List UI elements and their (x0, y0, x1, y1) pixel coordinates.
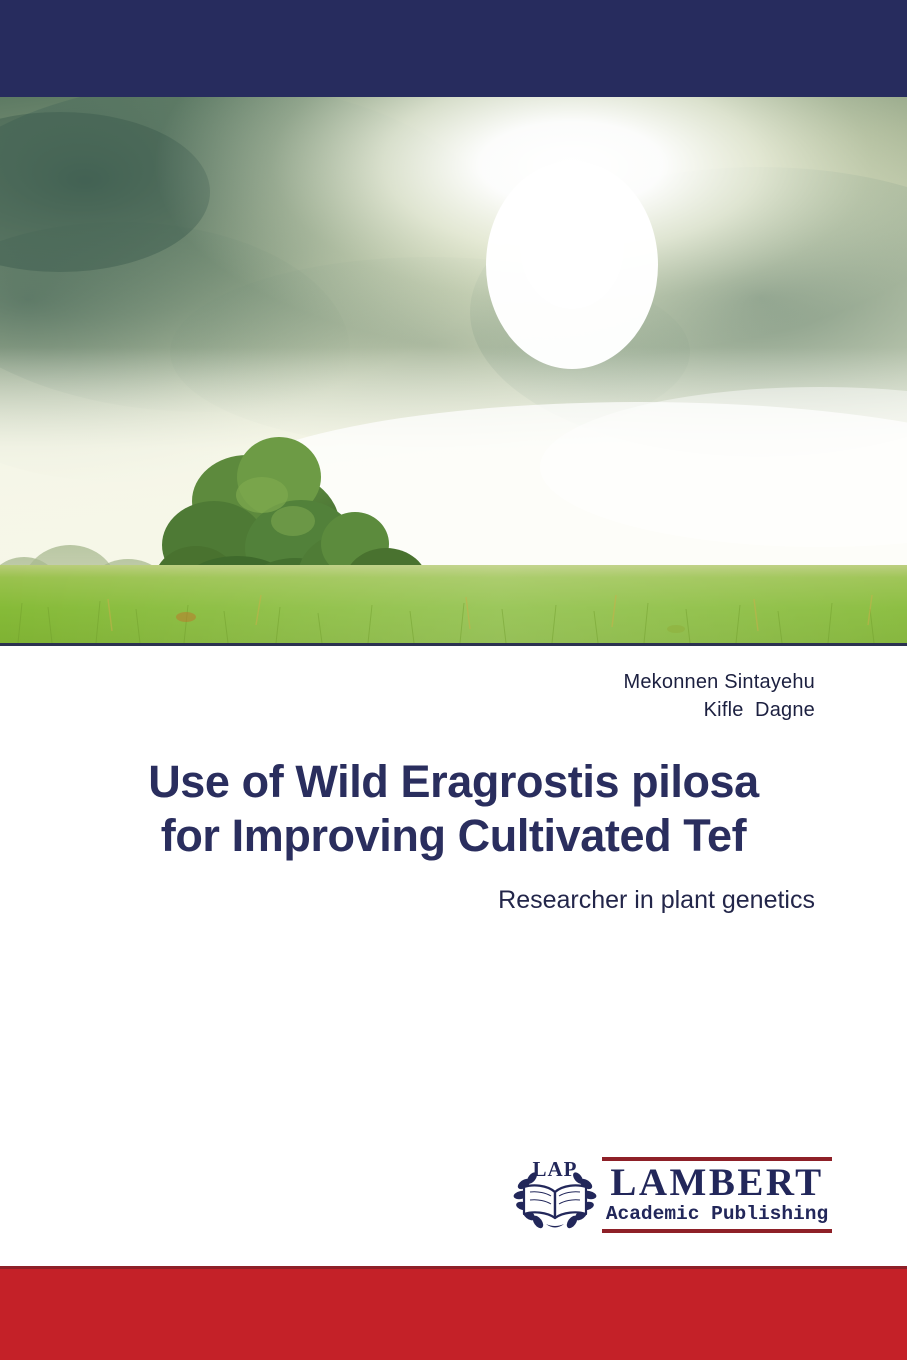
publisher-name: LAMBERT (602, 1163, 832, 1203)
book-subtitle: Researcher in plant genetics (115, 884, 815, 916)
book-title: Use of Wild Eragrostis pilosa for Improv… (0, 755, 907, 863)
logo-rule-bottom (602, 1229, 832, 1233)
author-name-primary: Mekonnen Sintayehu (175, 668, 815, 696)
lap-book-laurel-icon: LAP (512, 1154, 598, 1234)
author-block: Mekonnen Sintayehu Kifle Dagne (175, 668, 815, 724)
cover-photo (0, 97, 907, 646)
meadow-landscape-illustration (0, 97, 907, 643)
book-title-line-2: for Improving Cultivated Tef (0, 809, 907, 863)
book-cover: Mekonnen Sintayehu Kifle Dagne Use of Wi… (0, 0, 907, 1360)
top-color-band (0, 0, 907, 97)
book-title-line-1: Use of Wild Eragrostis pilosa (0, 755, 907, 809)
publisher-logo: LAP LAMBERT Academic Publishing (512, 1152, 832, 1236)
bottom-color-band (0, 1266, 907, 1360)
publisher-tagline: Academic Publishing (602, 1203, 832, 1226)
publisher-wordmark: LAMBERT Academic Publishing (602, 1155, 832, 1233)
svg-text:LAP: LAP (533, 1157, 578, 1181)
author-name-secondary: Kifle Dagne (175, 696, 815, 724)
